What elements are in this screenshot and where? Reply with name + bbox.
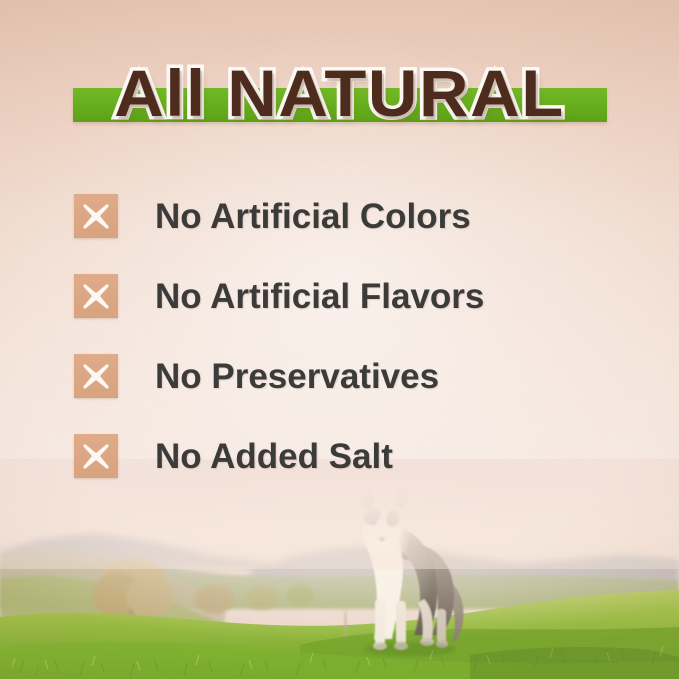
product-feature-graphic: All NATURAL No Artificial Colors No Arti…	[0, 0, 679, 679]
x-mark-icon	[74, 434, 118, 478]
list-item: No Preservatives	[74, 336, 634, 416]
page-title: All NATURAL	[0, 48, 679, 138]
claim-label: No Artificial Flavors	[155, 279, 484, 314]
headline-banner: All NATURAL	[0, 48, 679, 138]
list-item: No Added Salt	[74, 416, 634, 496]
claim-label: No Artificial Colors	[155, 199, 471, 234]
x-mark-icon	[74, 354, 118, 398]
list-item: No Artificial Colors	[74, 176, 634, 256]
claims-list: No Artificial Colors No Artificial Flavo…	[74, 176, 634, 496]
x-mark-icon	[74, 194, 118, 238]
x-mark-icon	[74, 274, 118, 318]
list-item: No Artificial Flavors	[74, 256, 634, 336]
claim-label: No Added Salt	[155, 439, 393, 474]
claim-label: No Preservatives	[155, 359, 439, 394]
